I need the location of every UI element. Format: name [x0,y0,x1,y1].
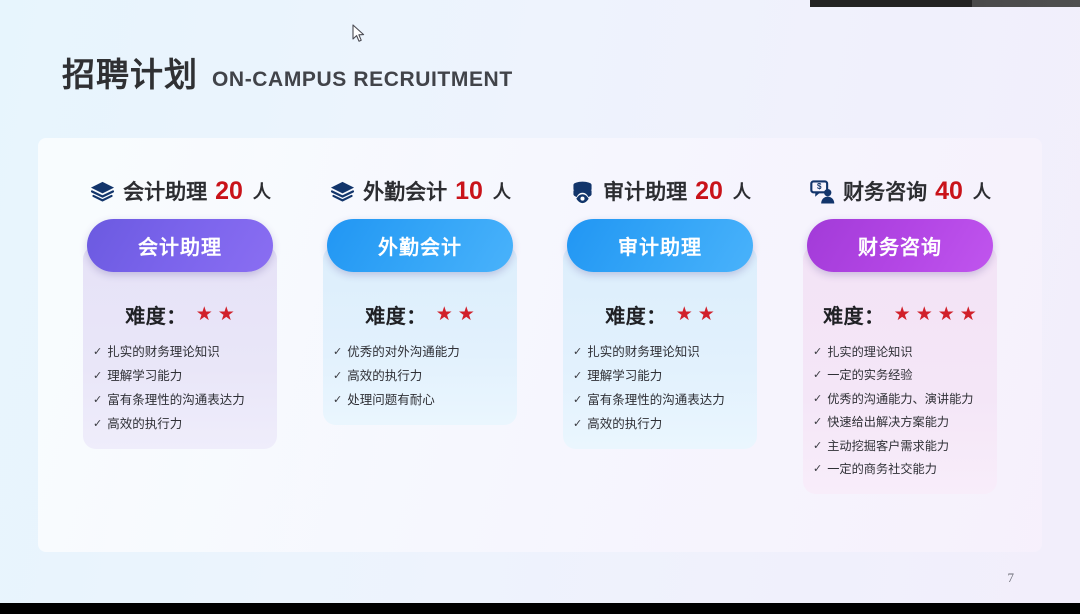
requirement-text: 优秀的对外沟通能力 [347,344,460,361]
job-headcount: 20 [695,177,723,206]
requirement-list: ✓扎实的理论知识✓一定的实务经验✓优秀的沟通能力、演讲能力✓快速给出解决方案能力… [803,344,997,478]
requirement-item: ✓快速给出解决方案能力 [813,414,987,430]
check-icon: ✓ [573,392,582,408]
requirement-list: ✓优秀的对外沟通能力✓高效的执行力✓处理问题有耐心 [323,344,517,409]
check-icon: ✓ [573,368,582,384]
job-title-pill-4[interactable]: 财务咨询 [807,219,993,272]
difficulty-label: 难度： [823,300,885,329]
check-icon: ✓ [573,344,582,360]
requirement-item: ✓一定的商务社交能力 [813,461,987,477]
job-card-会计助理: 会计助理 难度： ★★ ✓扎实的财务理论知识✓理解学习能力✓富有条理性的沟通表达… [83,246,277,449]
job-column-header: 审计助理 20 人 [569,176,751,206]
job-column-header: 外勤会计 10 人 [329,176,511,206]
requirement-item: ✓一定的实务经验 [813,367,987,383]
layers-stack-icon [329,178,356,205]
job-headcount: 20 [215,177,243,206]
check-icon: ✓ [813,344,822,360]
requirement-text: 高效的执行力 [107,416,182,433]
job-column-header: 会计助理 20 人 [89,176,271,206]
requirement-text: 主动挖掘客户需求能力 [827,438,949,454]
requirement-item: ✓处理问题有耐心 [333,392,507,409]
star-icon: ★ [458,305,475,324]
requirement-list: ✓扎实的财务理论知识✓理解学习能力✓富有条理性的沟通表达力✓高效的执行力 [83,344,277,433]
check-icon: ✓ [333,392,342,408]
requirement-text: 扎实的理论知识 [827,344,912,360]
requirement-item: ✓高效的执行力 [573,416,747,433]
job-headcount-unit: 人 [493,178,511,204]
star-icon: ★ [676,305,693,324]
svg-text:$: $ [817,182,822,191]
requirement-text: 快速给出解决方案能力 [827,414,949,430]
check-icon: ✓ [93,416,102,432]
job-column-2: 外勤会计 10 人 外勤会计 难度： ★★ ✓优秀的对外沟通能力✓高效的执行力✓… [305,138,535,552]
job-title-pill-3[interactable]: 审计助理 [567,219,753,272]
layers-stack-icon [89,178,116,205]
requirement-item: ✓优秀的对外沟通能力 [333,344,507,361]
difficulty-row: 难度： ★★ [125,300,235,328]
requirement-text: 理解学习能力 [587,368,662,385]
check-icon: ✓ [333,344,342,360]
check-icon: ✓ [813,438,822,454]
job-columns: 会计助理 20 人 会计助理 难度： ★★ ✓扎实的财务理论知识✓理解学习能力✓… [38,138,1042,552]
window-bottom-bar [0,603,1080,614]
check-icon: ✓ [813,391,822,407]
job-column-header: $ 财务咨询 40 人 [809,176,991,206]
mouse-cursor-icon [352,24,366,44]
star-icon: ★ [698,305,715,324]
requirement-list: ✓扎实的财务理论知识✓理解学习能力✓富有条理性的沟通表达力✓高效的执行力 [563,344,757,433]
requirement-item: ✓高效的执行力 [93,416,267,433]
requirement-text: 理解学习能力 [107,368,182,385]
job-card-外勤会计: 外勤会计 难度： ★★ ✓优秀的对外沟通能力✓高效的执行力✓处理问题有耐心 [323,246,517,425]
requirement-item: ✓扎实的财务理论知识 [93,344,267,361]
requirement-text: 一定的实务经验 [827,367,912,383]
job-headcount-unit: 人 [253,178,271,204]
requirement-text: 高效的执行力 [587,416,662,433]
job-headcount-unit: 人 [973,178,991,204]
requirement-text: 处理问题有耐心 [347,392,435,409]
difficulty-label: 难度： [365,300,427,329]
difficulty-row: 难度： ★★ [605,300,715,328]
requirement-item: ✓扎实的理论知识 [813,344,987,360]
job-card-财务咨询: 财务咨询 难度： ★★★★ ✓扎实的理论知识✓一定的实务经验✓优秀的沟通能力、演… [803,246,997,494]
difficulty-row: 难度： ★★★★ [823,300,977,328]
page-title-cn: 招聘计划 [62,48,198,96]
requirement-text: 扎实的财务理论知识 [107,344,220,361]
difficulty-stars: ★★ [436,305,475,324]
star-icon: ★ [218,305,235,324]
job-card-审计助理: 审计助理 难度： ★★ ✓扎实的财务理论知识✓理解学习能力✓富有条理性的沟通表达… [563,246,757,449]
job-role-name: 财务咨询 [843,176,927,206]
job-column-4: $ 财务咨询 40 人 财务咨询 难度： ★★★★ ✓扎实的理论知识✓一定的实务… [785,138,1015,552]
requirement-item: ✓理解学习能力 [93,368,267,385]
job-column-1: 会计助理 20 人 会计助理 难度： ★★ ✓扎实的财务理论知识✓理解学习能力✓… [65,138,295,552]
database-eye-icon [569,178,596,205]
check-icon: ✓ [93,392,102,408]
difficulty-stars: ★★ [196,305,235,324]
database-eye-icon [569,178,596,205]
layers-stack-icon [329,178,356,205]
requirement-text: 一定的商务社交能力 [827,461,937,477]
requirement-text: 优秀的沟通能力、演讲能力 [827,391,973,407]
difficulty-stars: ★★ [676,305,715,324]
layers-stack-icon [89,178,116,205]
requirement-text: 富有条理性的沟通表达力 [587,392,725,409]
check-icon: ✓ [813,414,822,430]
job-headcount: 40 [935,177,963,206]
job-column-3: 审计助理 20 人 审计助理 难度： ★★ ✓扎实的财务理论知识✓理解学习能力✓… [545,138,775,552]
star-icon: ★ [916,305,933,324]
check-icon: ✓ [813,461,822,477]
page-title-en: ON-CAMPUS RECRUITMENT [212,68,513,92]
requirement-text: 扎实的财务理论知识 [587,344,700,361]
requirement-text: 富有条理性的沟通表达力 [107,392,245,409]
job-role-name: 外勤会计 [363,176,447,206]
job-title-pill-1[interactable]: 会计助理 [87,219,273,272]
requirement-item: ✓主动挖掘客户需求能力 [813,438,987,454]
difficulty-stars: ★★★★ [894,305,977,324]
content-panel: 会计助理 20 人 会计助理 难度： ★★ ✓扎实的财务理论知识✓理解学习能力✓… [38,138,1042,552]
requirement-item: ✓理解学习能力 [573,368,747,385]
check-icon: ✓ [93,368,102,384]
star-icon: ★ [436,305,453,324]
requirement-item: ✓富有条理性的沟通表达力 [573,392,747,409]
job-role-name: 审计助理 [603,176,687,206]
page-title: 招聘计划 ON-CAMPUS RECRUITMENT [62,48,513,96]
check-icon: ✓ [333,368,342,384]
requirement-text: 高效的执行力 [347,368,422,385]
difficulty-row: 难度： ★★ [365,300,475,328]
money-consult-person-icon: $ [809,178,836,205]
window-top-bar [810,0,1080,7]
difficulty-label: 难度： [125,300,187,329]
check-icon: ✓ [93,344,102,360]
job-title-pill-2[interactable]: 外勤会计 [327,219,513,272]
money-consult-person-icon: $ [809,178,836,205]
check-icon: ✓ [573,416,582,432]
difficulty-label: 难度： [605,300,667,329]
job-headcount: 10 [455,177,483,206]
job-headcount-unit: 人 [733,178,751,204]
job-role-name: 会计助理 [123,176,207,206]
star-icon: ★ [894,305,911,324]
star-icon: ★ [196,305,213,324]
star-icon: ★ [938,305,955,324]
requirement-item: ✓高效的执行力 [333,368,507,385]
requirement-item: ✓优秀的沟通能力、演讲能力 [813,391,987,407]
requirement-item: ✓富有条理性的沟通表达力 [93,392,267,409]
page-number: 7 [1008,570,1015,586]
requirement-item: ✓扎实的财务理论知识 [573,344,747,361]
star-icon: ★ [960,305,977,324]
check-icon: ✓ [813,367,822,383]
